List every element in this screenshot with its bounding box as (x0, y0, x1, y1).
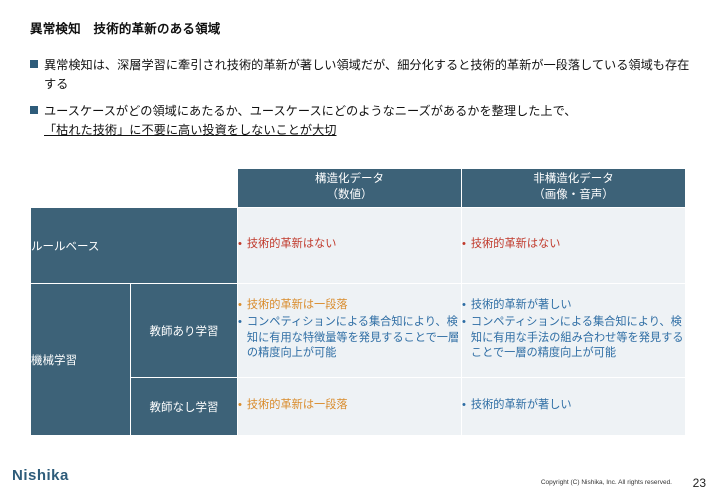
row-label-machine-learning: 機械学習 (31, 284, 131, 436)
list-item: • コンペティションによる集合知により、検知に有用な手法の組み合わせ等を発見する… (462, 315, 685, 363)
header-unstructured-line2: （画像・音声） (462, 188, 685, 204)
header-corner-blank (31, 169, 238, 208)
bullet-item: 異常検知は、深層学習に牽引され技術的革新が著しい領域だが、細分化すると技術的革新… (30, 56, 695, 94)
table-row: 機械学習 教師あり学習 • 技術的革新は一段落 • コンペティションによる集合知… (31, 284, 686, 378)
slide: 異常検知 技術的革新のある領域 異常検知は、深層学習に牽引され技術的革新が著しい… (0, 0, 720, 498)
header-structured-line2: （数値） (238, 188, 461, 204)
cell-supervised-structured: • 技術的革新は一段落 • コンペティションによる集合知により、検知に有用な特徴… (238, 284, 462, 378)
table-header-row: 構造化データ （数値） 非構造化データ （画像・音声） (31, 169, 686, 208)
bullet-list: 異常検知は、深層学習に牽引され技術的革新が著しい領域だが、細分化すると技術的革新… (30, 56, 695, 148)
matrix-table: 構造化データ （数値） 非構造化データ （画像・音声） ルールベース • 技術的… (30, 168, 686, 436)
table-row: ルールベース • 技術的革新はない • 技術的革新はない (31, 208, 686, 284)
header-unstructured-data: 非構造化データ （画像・音声） (462, 169, 686, 208)
bullet-text-line1: ユースケースがどの領域にあたるか、ユースケースにどのようなニーズがあるかを整理し… (44, 104, 576, 118)
list-item-text: 技術的革新は一段落 (247, 298, 461, 314)
cell-unsupervised-unstructured: • 技術的革新が著しい (462, 378, 686, 436)
square-bullet-icon (30, 60, 38, 68)
page-title: 異常検知 技術的革新のある領域 (30, 18, 221, 37)
list-item-text: コンペティションによる集合知により、検知に有用な手法の組み合わせ等を発見すること… (471, 315, 685, 363)
list-item: • コンペティションによる集合知により、検知に有用な特徴量等を発見することで一層… (238, 315, 461, 363)
row-label-rule-based: ルールベース (31, 208, 238, 284)
copyright-text: Copyright (C) Nishika, Inc. All rights r… (541, 479, 672, 486)
list-item-text: 技術的革新はない (471, 237, 685, 253)
list-item: • 技術的革新が著しい (462, 298, 685, 314)
header-unstructured-line1: 非構造化データ (462, 172, 685, 188)
bullet-text: 異常検知は、深層学習に牽引され技術的革新が著しい領域だが、細分化すると技術的革新… (44, 56, 695, 94)
bullet-item: ユースケースがどの領域にあたるか、ユースケースにどのようなニーズがあるかを整理し… (30, 102, 695, 140)
page-number: 23 (693, 476, 706, 490)
list-item-text: 技術的革新が著しい (471, 298, 685, 314)
cell-supervised-unstructured: • 技術的革新が著しい • コンペティションによる集合知により、検知に有用な手法… (462, 284, 686, 378)
cell-rule-based-unstructured: • 技術的革新はない (462, 208, 686, 284)
cell-unsupervised-structured: • 技術的革新は一段落 (238, 378, 462, 436)
list-item: • 技術的革新は一段落 (238, 398, 461, 414)
bullet-dot-icon: • (238, 237, 242, 253)
bullet-text-group: ユースケースがどの領域にあたるか、ユースケースにどのようなニーズがあるかを整理し… (44, 102, 576, 140)
bullet-dot-icon: • (462, 237, 466, 253)
square-bullet-icon (30, 106, 38, 114)
list-item: • 技術的革新はない (238, 237, 461, 253)
bullet-dot-icon: • (462, 315, 466, 331)
bullet-dot-icon: • (462, 298, 466, 314)
list-item: • 技術的革新はない (462, 237, 685, 253)
list-item-text: コンペティションによる集合知により、検知に有用な特徴量等を発見することで一層の精… (247, 315, 461, 363)
list-item-text: 技術的革新が著しい (471, 398, 685, 414)
matrix-table-wrapper: 構造化データ （数値） 非構造化データ （画像・音声） ルールベース • 技術的… (30, 168, 685, 436)
list-item-text: 技術的革新はない (247, 237, 461, 253)
bullet-dot-icon: • (238, 398, 242, 414)
row-sublabel-supervised: 教師あり学習 (131, 284, 238, 378)
bullet-dot-icon: • (462, 398, 466, 414)
bullet-dot-icon: • (238, 315, 242, 331)
bullet-text-line2: 「枯れた技術」に不要に高い投資をしないことが大切 (44, 123, 337, 137)
list-item: • 技術的革新は一段落 (238, 298, 461, 314)
list-item: • 技術的革新が著しい (462, 398, 685, 414)
header-structured-data: 構造化データ （数値） (238, 169, 462, 208)
row-sublabel-unsupervised: 教師なし学習 (131, 378, 238, 436)
header-structured-line1: 構造化データ (238, 172, 461, 188)
cell-rule-based-structured: • 技術的革新はない (238, 208, 462, 284)
list-item-text: 技術的革新は一段落 (247, 398, 461, 414)
bullet-dot-icon: • (238, 298, 242, 314)
brand-logo: Nishika (12, 467, 69, 484)
